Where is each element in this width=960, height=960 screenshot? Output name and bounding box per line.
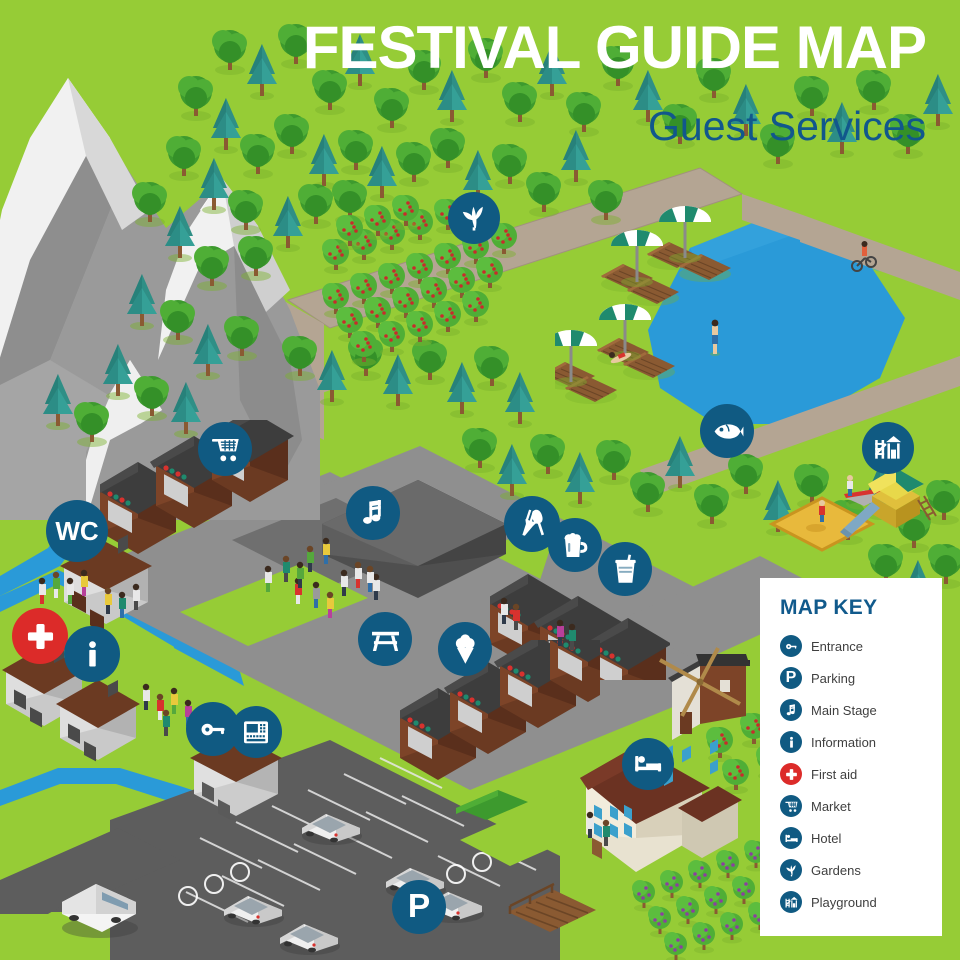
- map-marker-market[interactable]: [198, 422, 252, 476]
- map-marker-gardens[interactable]: [448, 192, 500, 244]
- parking-p-icon: P: [780, 667, 802, 689]
- ticket-machine-icon: [240, 716, 272, 748]
- hotel-guests: [578, 800, 638, 850]
- map-key-label: Playground: [811, 895, 877, 910]
- map-key-label: Entrance: [811, 639, 863, 654]
- map-key-list: EntrancePParking Main StageInformation F…: [780, 630, 942, 918]
- map-marker-drinks[interactable]: [598, 542, 652, 596]
- map-key-title: MAP KEY: [780, 596, 942, 620]
- music-note-icon: [357, 497, 390, 530]
- map-marker-picnic[interactable]: [358, 612, 412, 666]
- map-key-item-market[interactable]: Market: [780, 790, 942, 822]
- map-marker-label: P: [408, 890, 430, 923]
- map-marker-wc[interactable]: WC: [46, 500, 108, 562]
- key-icon: [780, 635, 802, 657]
- playground-icon: [780, 891, 802, 913]
- map-marker-label: WC: [55, 518, 98, 544]
- key-icon: [197, 713, 230, 746]
- map-marker-playground[interactable]: [862, 422, 914, 474]
- map-key-item-first-aid[interactable]: First aid: [780, 758, 942, 790]
- map-marker-ice-cream[interactable]: [438, 622, 492, 676]
- soft-drink-icon: [609, 553, 642, 586]
- map-key-label: Market: [811, 799, 851, 814]
- picnic-table-icon: [369, 623, 402, 656]
- bed-icon: [780, 827, 802, 849]
- bed-icon: [632, 748, 664, 780]
- ice-cream-icon: [449, 633, 482, 666]
- leaves-icon: [780, 859, 802, 881]
- map-key-label: Gardens: [811, 863, 861, 878]
- map-marker-beer[interactable]: [548, 518, 602, 572]
- map-marker-tickets[interactable]: [230, 706, 282, 758]
- cross-icon: [23, 619, 58, 654]
- map-key-label: Parking: [811, 671, 855, 686]
- map-key-item-main-stage[interactable]: Main Stage: [780, 694, 942, 726]
- map-marker-fishing[interactable]: [700, 404, 754, 458]
- map-key-item-parking[interactable]: PParking: [780, 662, 942, 694]
- map-marker-first-aid[interactable]: [12, 608, 68, 664]
- map-key-panel: MAP KEY EntrancePParking Main StageInfor…: [760, 578, 942, 936]
- shopping-cart-icon: [780, 795, 802, 817]
- info-i-icon: [75, 637, 110, 672]
- map-key-label: Hotel: [811, 831, 841, 846]
- map-key-item-playground[interactable]: Playground: [780, 886, 942, 918]
- playground-icon: [872, 432, 904, 464]
- beer-mug-icon: [559, 529, 592, 562]
- map-key-item-gardens[interactable]: Gardens: [780, 854, 942, 886]
- map-key-item-hotel[interactable]: Hotel: [780, 822, 942, 854]
- delivery-van: [52, 880, 162, 950]
- map-key-label: First aid: [811, 767, 857, 782]
- beach-area: [555, 200, 815, 410]
- map-key-item-entrance[interactable]: Entrance: [780, 630, 942, 662]
- cyclist: [845, 240, 885, 280]
- fish-icon: [711, 415, 744, 448]
- shopping-cart-icon: [209, 433, 242, 466]
- lone-visitor: [356, 556, 386, 596]
- map-marker-parking[interactable]: P: [392, 880, 446, 934]
- cutlery-icon: [515, 507, 550, 542]
- parked-cars: [160, 780, 560, 960]
- festival-guide-map: WC: [0, 0, 960, 960]
- map-marker-main-stage[interactable]: [346, 486, 400, 540]
- cross-icon: [780, 763, 802, 785]
- music-note-icon: [780, 699, 802, 721]
- map-key-label: Main Stage: [811, 703, 877, 718]
- map-key-label: Information: [811, 735, 876, 750]
- map-marker-hotel[interactable]: [622, 738, 674, 790]
- map-key-item-information[interactable]: Information: [780, 726, 942, 758]
- map-marker-information[interactable]: [64, 626, 120, 682]
- info-i-icon: [780, 731, 802, 753]
- stage-crowd: [250, 530, 430, 630]
- leaves-icon: [458, 202, 490, 234]
- playground-equipment: [760, 440, 940, 570]
